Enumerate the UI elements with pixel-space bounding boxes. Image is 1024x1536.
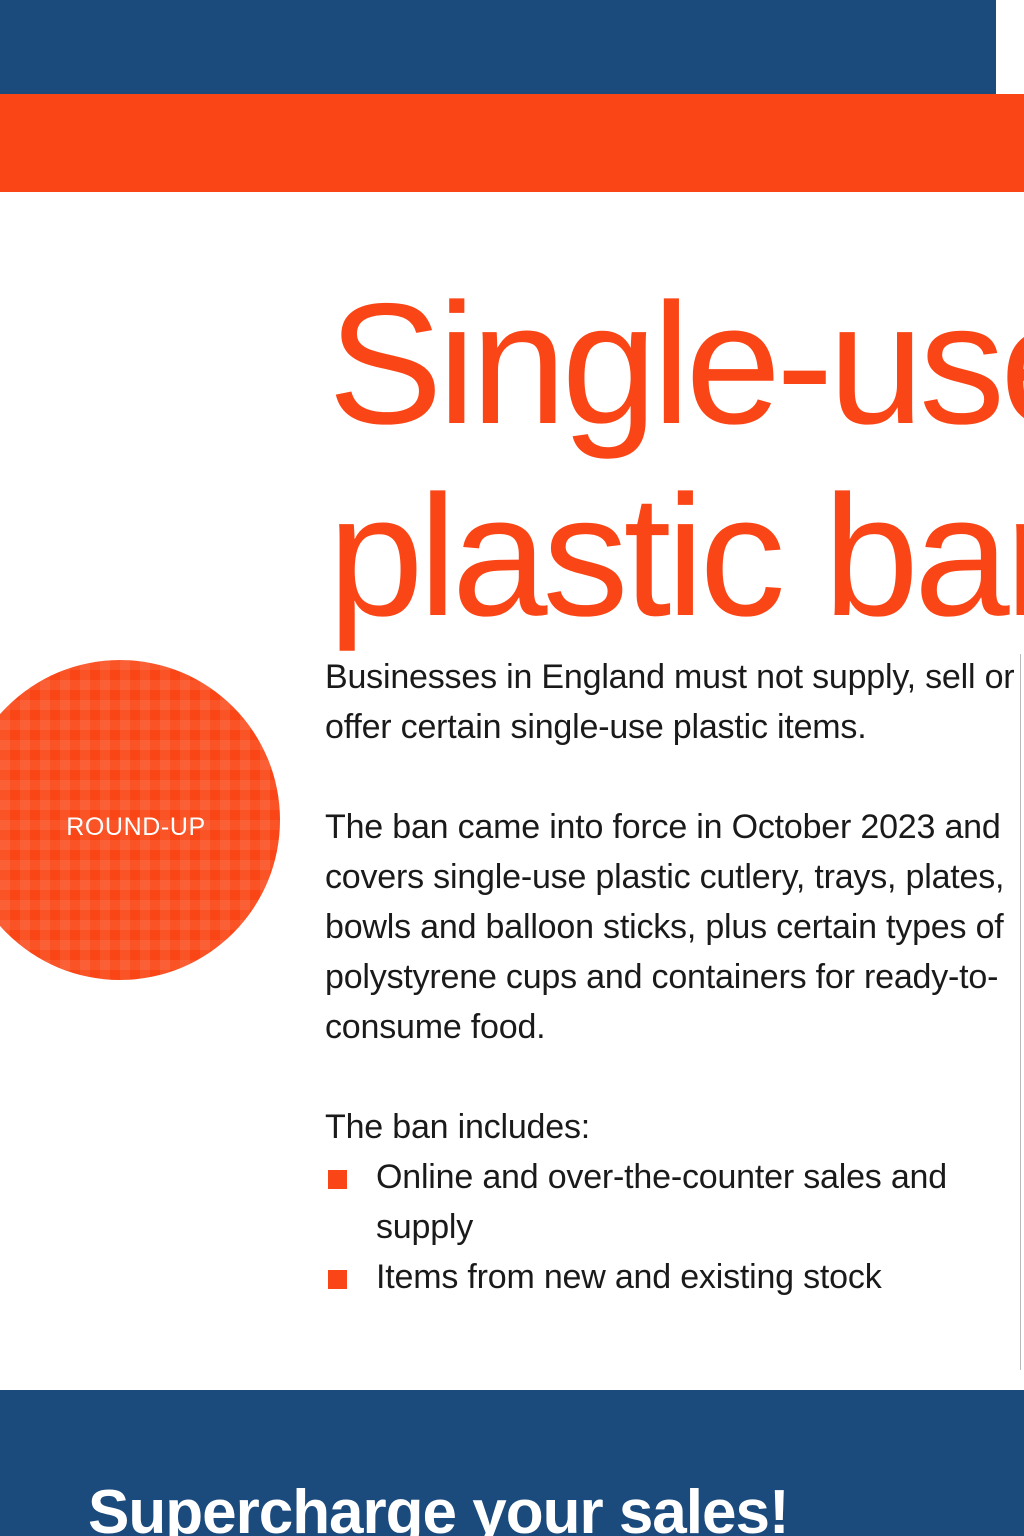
bullet-square-icon — [328, 1170, 347, 1189]
round-up-badge-label: ROUND-UP — [0, 812, 280, 842]
list-item: Items from new and existing stock — [325, 1252, 1024, 1302]
band-seam-line — [1013, 94, 1014, 188]
page-title-line-1: Single-use — [328, 268, 1024, 460]
slide-page: heating, air conditioning or CCTV. Singl… — [0, 0, 1024, 1536]
list-item-label: Items from new and existing stock — [376, 1258, 882, 1296]
footer-title: Supercharge your sales! — [88, 1478, 789, 1536]
page-title: Single-use plastic ban — [328, 268, 1024, 652]
footer-blue-panel: Supercharge your sales! — [0, 1390, 1024, 1536]
bullet-square-icon — [328, 1270, 347, 1289]
list-item-label: Online and over-the-counter sales and su… — [376, 1158, 947, 1246]
orange-divider-band — [0, 94, 1024, 192]
body-copy-column: Businesses in England must not supply, s… — [325, 652, 1024, 1302]
ban-list: Online and over-the-counter sales and su… — [325, 1152, 1024, 1302]
body-paragraph-1: Businesses in England must not supply, s… — [325, 652, 1024, 752]
ban-list-intro: The ban includes: — [325, 1102, 1024, 1152]
list-item: Online and over-the-counter sales and su… — [325, 1152, 1024, 1252]
page-title-line-2: plastic ban — [328, 460, 1024, 652]
body-paragraph-2: The ban came into force in October 2023 … — [325, 802, 1024, 1052]
top-blue-strip: heating, air conditioning or CCTV. — [0, 0, 996, 94]
